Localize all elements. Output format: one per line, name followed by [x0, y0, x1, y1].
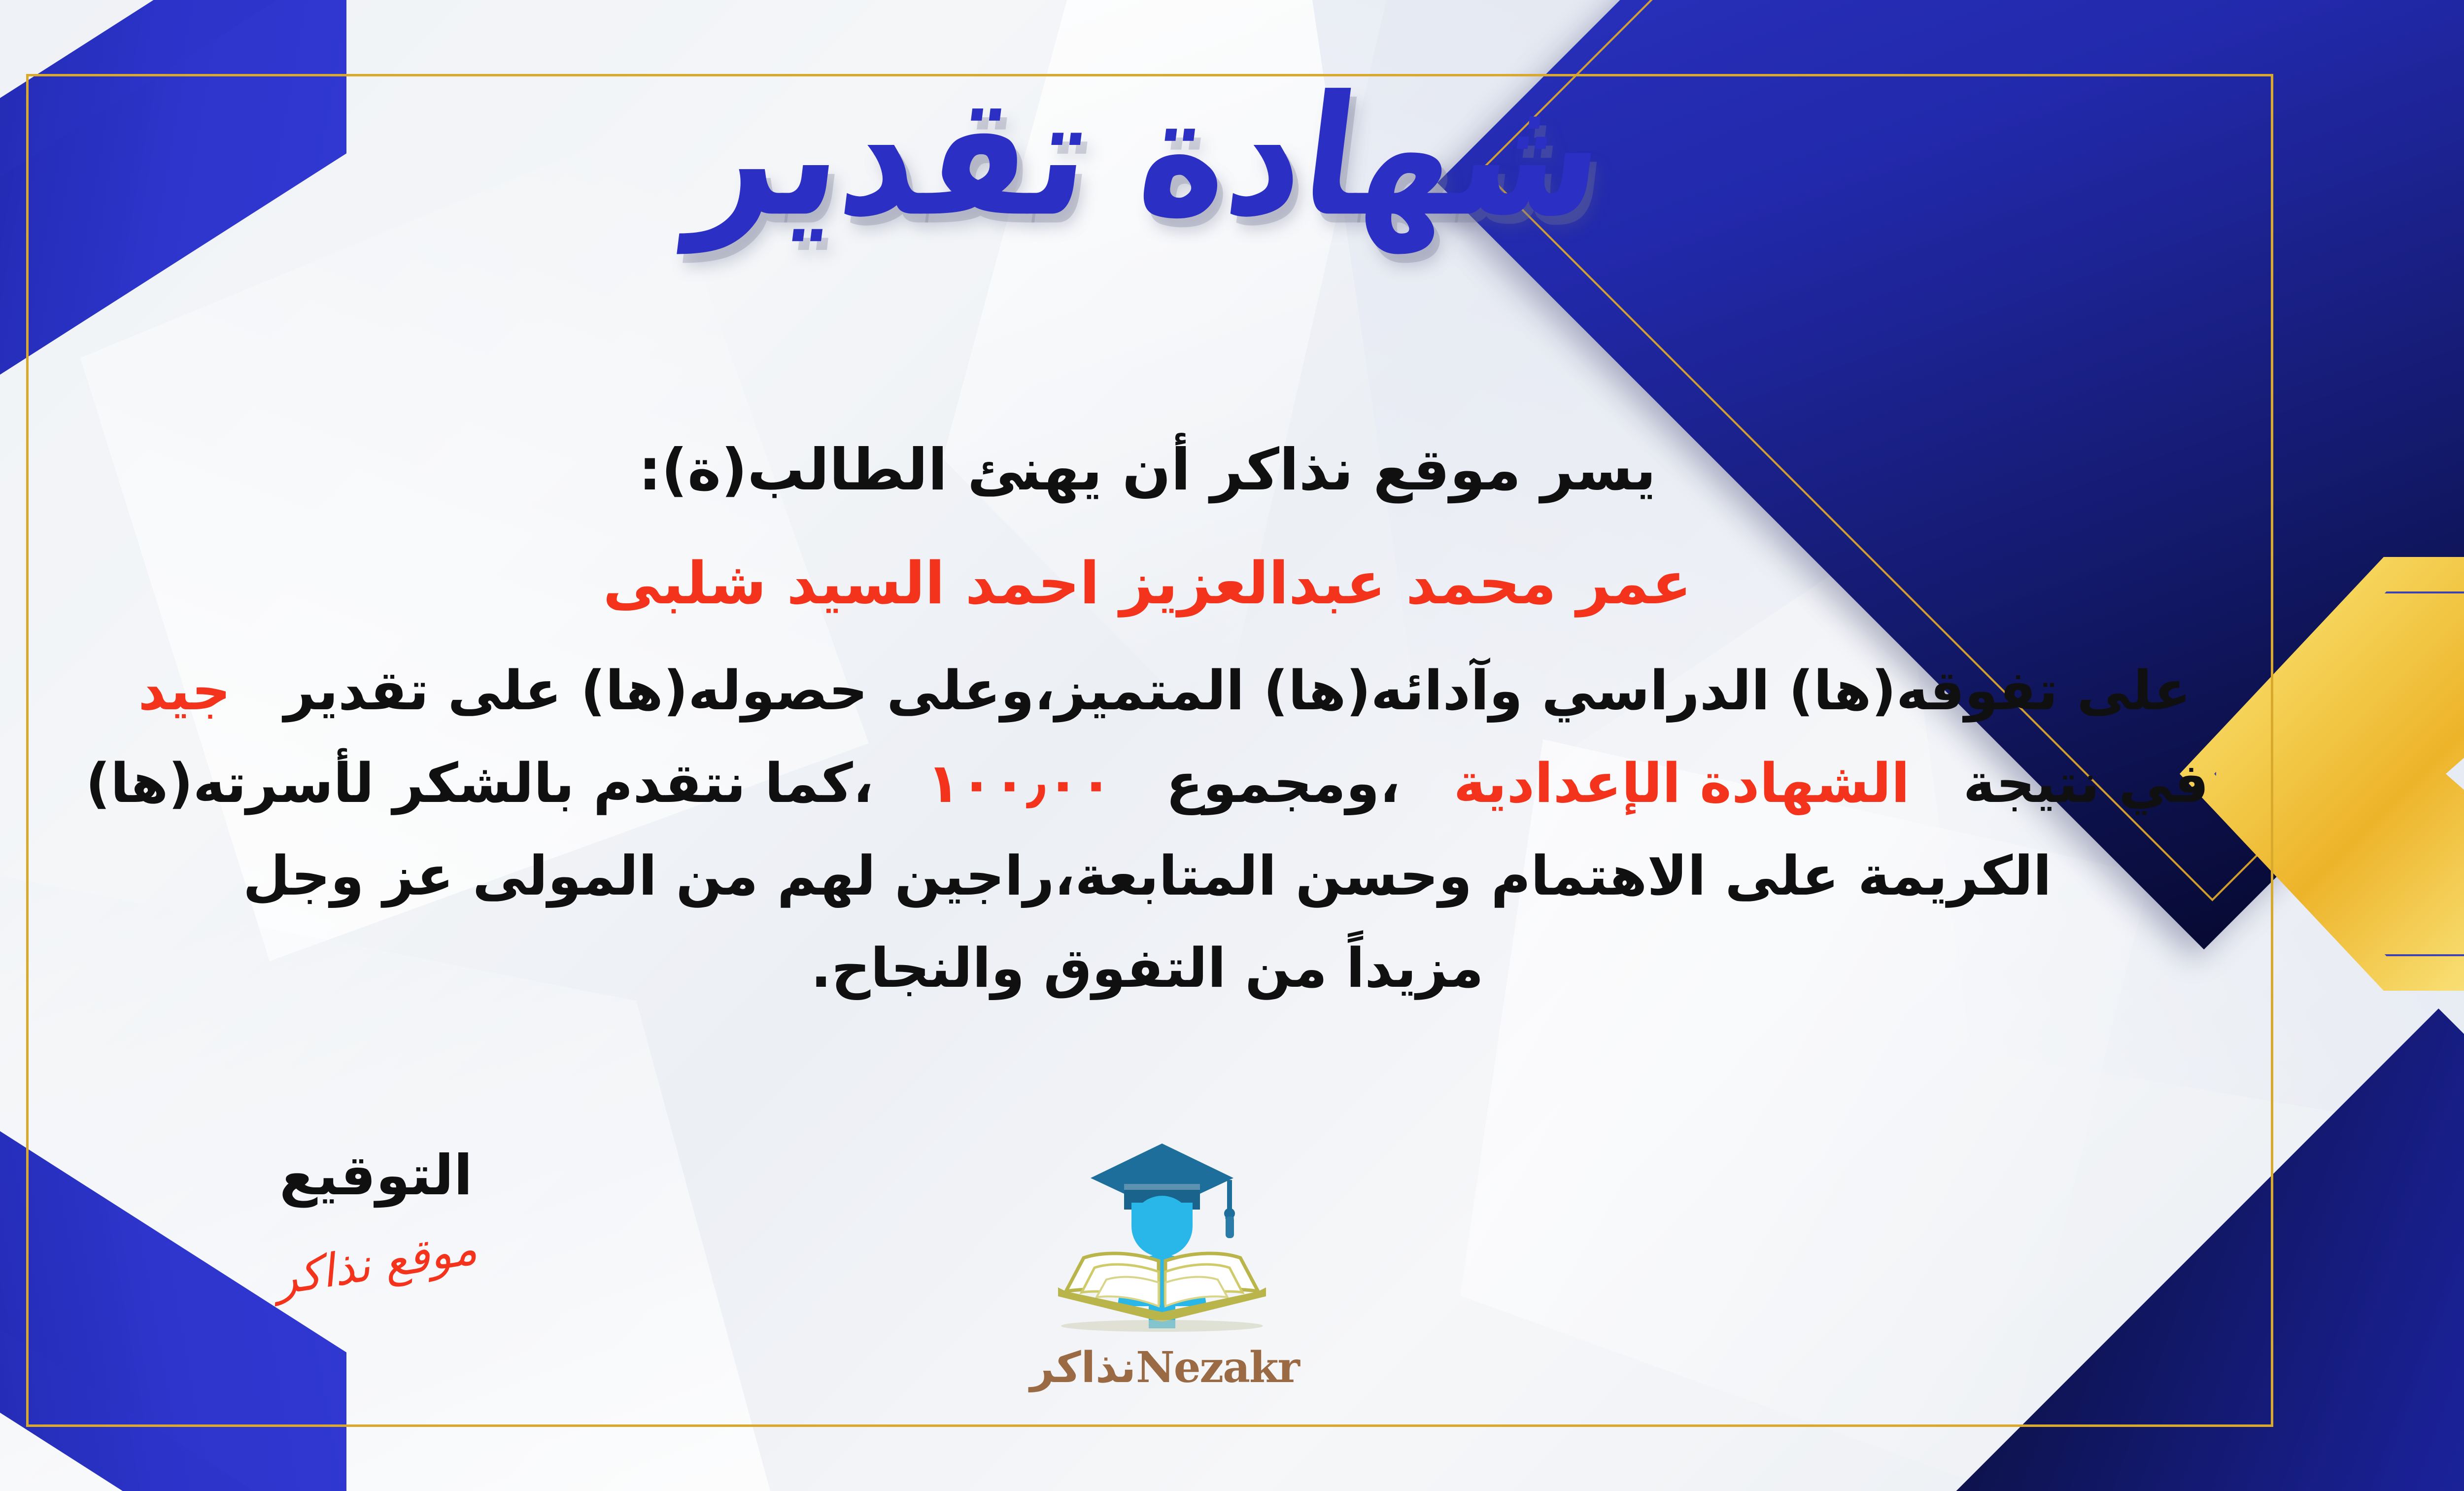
- page-title: شهادة تقدير: [683, 53, 1616, 260]
- logo-latin-text: Nezakr: [1136, 1343, 1299, 1392]
- thanks-text: ،كما نتقدم بالشكر لأسرته(ها): [86, 752, 874, 815]
- student-name: عمر محمد عبدالعزيز احمد السيد شلبى: [46, 536, 2249, 630]
- total-prefix: ،ومجموع: [1166, 752, 1400, 815]
- exam-name: الشهادة الإعدادية: [1419, 752, 1945, 815]
- logo-arabic-text: نذاكر: [1030, 1343, 1136, 1392]
- greeting-line: يسر موقع نذاكر أن يهنئ الطالب(ة):: [46, 424, 2249, 517]
- graduate-book-icon: [1036, 1129, 1293, 1341]
- signature-label: التوقيع: [208, 1144, 544, 1208]
- achievement-line: على تفوقه(ها) الدراسي وآدائه(ها) المتميز…: [46, 648, 2249, 734]
- signature-block: التوقيع موقع نذاكر: [208, 1144, 544, 1290]
- family-thanks-line: الكريمة على الاهتمام وحسن المتابعة،راجين…: [46, 833, 2249, 919]
- total-score: ١٠٠٫٠٠: [892, 752, 1147, 815]
- exam-result-line: في نتيجة الشهادة الإعدادية ،ومجموع ١٠٠٫٠…: [46, 741, 2249, 827]
- certificate-body: يسر موقع نذاكر أن يهنئ الطالب(ة): عمر مح…: [46, 424, 2249, 1018]
- grade-value: جيد: [103, 659, 265, 722]
- achievement-text: على تفوقه(ها) الدراسي وآدائه(ها) المتميز…: [284, 659, 2190, 722]
- closing-wish-line: مزيداً من التفوق والنجاح.: [46, 926, 2249, 1011]
- site-logo: Nezakrنذاكر: [1027, 1129, 1302, 1424]
- certificate-canvas: شهادة تقدير يسر موقع نذاكر أن يهنئ الطال…: [0, 0, 2464, 1491]
- bottom-right-blue-block: [1742, 1008, 2464, 1491]
- exam-prefix: في نتيجة: [1963, 752, 2209, 815]
- signature-handwritten: موقع نذاكر: [272, 1221, 481, 1305]
- title-container: شهادة تقدير: [0, 64, 2464, 249]
- logo-wordmark: Nezakrنذاكر: [1027, 1343, 1302, 1392]
